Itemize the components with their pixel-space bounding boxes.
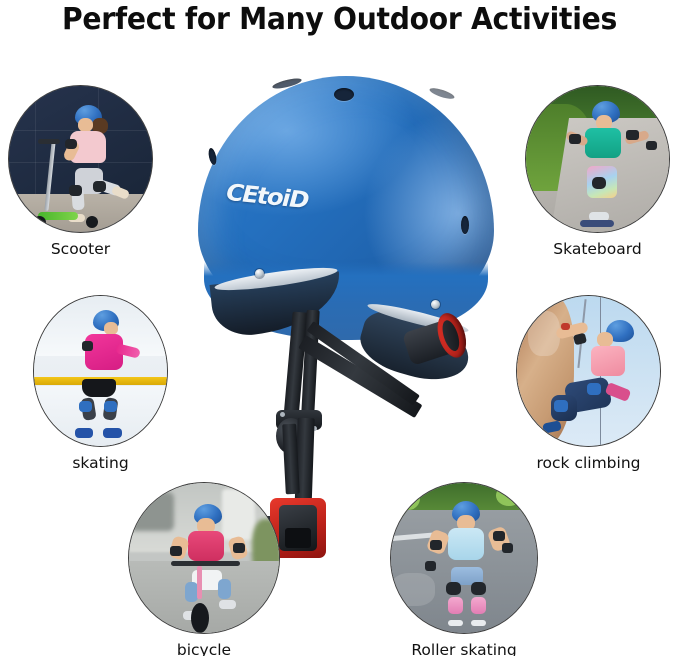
climbing-knee-pad-a — [554, 400, 568, 412]
bicycle-wall — [222, 489, 255, 540]
skating-scene — [34, 296, 167, 446]
helmet-vent-left — [207, 147, 217, 165]
strap-pin-a — [280, 412, 285, 417]
skating-knee-pad-a — [79, 401, 92, 412]
activity-label-bicycle: bicycle — [128, 641, 280, 656]
activity-badge-skating: skating — [33, 295, 168, 472]
bicycle-child-shirt — [188, 531, 224, 561]
roller-skate-wheels-right — [471, 620, 486, 626]
scooter-child-knee-pad-a — [69, 185, 82, 196]
bicycle-handlebar — [171, 561, 240, 566]
scooter-child-elbow-pad — [65, 139, 77, 149]
bicycle-frame — [197, 566, 202, 599]
roller-tree-leaf-a — [397, 486, 420, 510]
activity-image-roller-skating — [390, 482, 538, 634]
activity-badge-rock-climbing: rock climbing — [516, 295, 661, 472]
roller-skating-scene — [391, 483, 537, 633]
bicycle-shoe-right — [219, 600, 236, 609]
skateboard-elbow-pad-right — [626, 130, 639, 140]
activity-image-skating — [33, 295, 168, 447]
helmet-rivet-front — [255, 269, 264, 278]
roller-wrist-guard-left — [425, 561, 436, 571]
skating-skate-a — [75, 428, 93, 438]
climbing-knee-pad-b — [587, 383, 601, 395]
product-infographic: Perfect for Many Outdoor Activities — [0, 0, 679, 656]
roller-sun-patch — [391, 573, 435, 606]
roller-elbow-pad-right — [493, 531, 505, 541]
activity-badge-bicycle: bicycle — [128, 482, 280, 656]
roller-knee-pad-left — [446, 582, 461, 595]
skateboard-elbow-pad-left — [569, 134, 581, 144]
scooter-child-knee-pad-b — [93, 181, 106, 192]
activity-label-scooter: Scooter — [8, 240, 153, 258]
climbing-child-face — [597, 332, 613, 347]
scooter-child-face — [78, 118, 93, 132]
bicycle-elbow-pad-right — [233, 543, 245, 553]
skateboard-scene — [526, 86, 669, 232]
roller-knee-pad-right — [471, 582, 486, 595]
page-title: Perfect for Many Outdoor Activities — [20, 2, 658, 37]
climbing-child-shirt — [591, 346, 625, 376]
skating-skate-b — [103, 428, 122, 438]
helmet-vent-top — [334, 88, 354, 101]
climbing-rock-chalk — [528, 311, 559, 356]
rock-climbing-scene — [517, 296, 660, 446]
bicycle-elbow-pad-left — [170, 546, 182, 556]
helmet-vent-rear-top — [429, 86, 456, 101]
skateboard-deck — [580, 220, 614, 227]
skateboard-wrist-guard — [646, 141, 657, 150]
skating-child-face — [104, 322, 118, 335]
buckle-slot — [285, 528, 311, 548]
roller-skate-right — [471, 597, 486, 614]
helmet-rivet-rear — [431, 300, 440, 309]
skateboard-child-shoe — [589, 212, 609, 221]
helmet-vent-right — [461, 216, 469, 234]
roller-child-shirt — [448, 528, 484, 560]
activity-image-rock-climbing — [516, 295, 661, 447]
activity-image-scooter — [8, 85, 153, 233]
activity-image-skateboard — [525, 85, 670, 233]
activity-badge-scooter: Scooter — [8, 85, 153, 258]
skateboard-child-shirt — [585, 128, 621, 158]
bicycle-front-wheel — [191, 603, 209, 633]
roller-elbow-pad-left — [430, 540, 442, 550]
bicycle-parked-car — [129, 492, 174, 531]
skating-elbow-pad — [82, 341, 93, 351]
scooter-scene — [9, 86, 152, 232]
climbing-wristband — [561, 323, 570, 330]
activity-label-skateboard: Skateboard — [525, 240, 670, 258]
activity-badge-roller-skating: Roller skating — [390, 482, 538, 656]
roller-wrist-guard-right — [502, 543, 513, 553]
bicycle-knee-pad-right — [218, 579, 231, 599]
activity-badge-skateboard: Skateboard — [525, 85, 670, 258]
climbing-elbow-pad — [573, 332, 587, 345]
skating-child-skirt — [82, 379, 116, 397]
bicycle-knee-pad-left — [185, 582, 198, 602]
scooter-wall-line-c — [35, 86, 36, 194]
roller-skate-wheels-left — [448, 620, 463, 626]
activity-label-roller-skating: Roller skating — [390, 641, 538, 656]
activity-image-bicycle — [128, 482, 280, 634]
skating-knee-pad-b — [104, 401, 117, 412]
roller-skate-left — [448, 597, 463, 614]
product-helmet-image: CEtoiD — [184, 66, 504, 506]
bicycle-scene — [129, 483, 279, 633]
scooter-handlebar — [38, 139, 60, 144]
activity-label-skating: skating — [33, 454, 168, 472]
skateboard-knee-pad — [592, 177, 606, 189]
roller-tree-leaf-b — [496, 485, 522, 506]
activity-label-rock-climbing: rock climbing — [516, 454, 661, 472]
